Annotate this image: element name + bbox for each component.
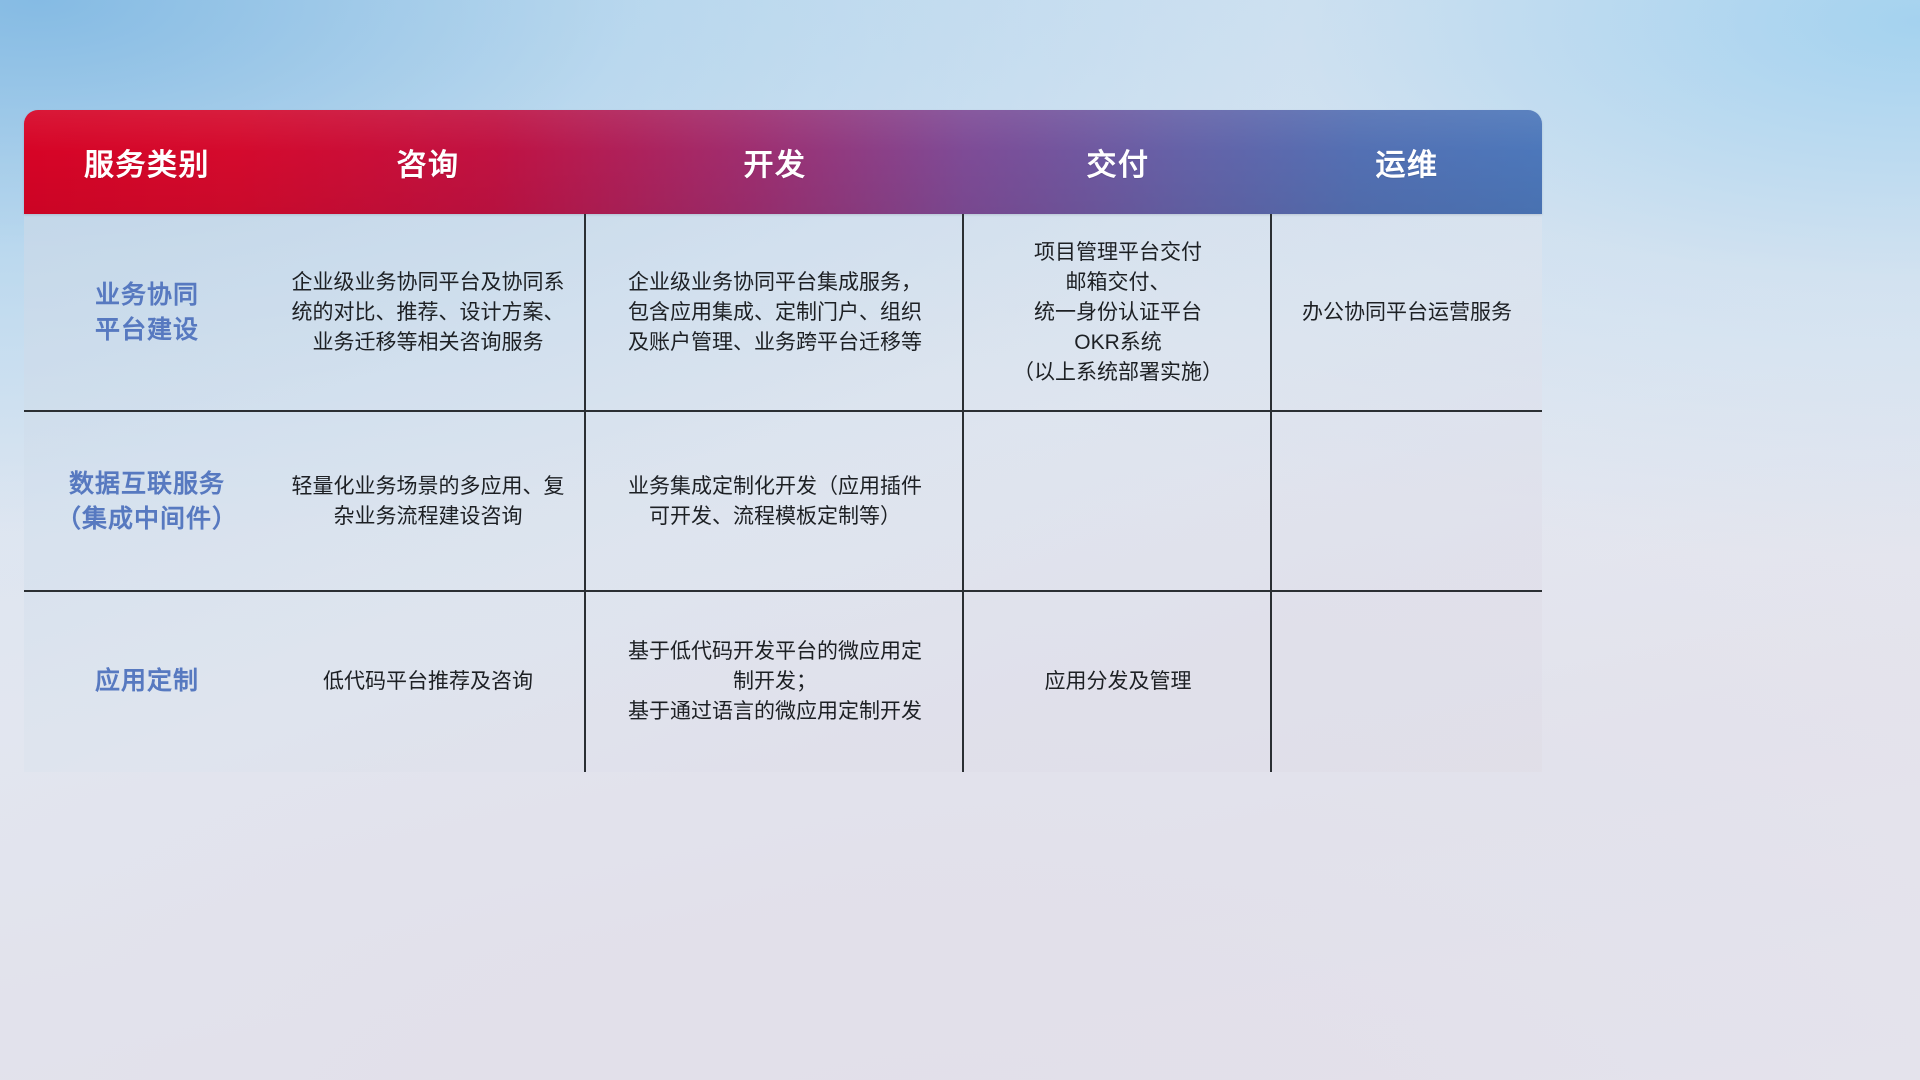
cell-consulting: 低代码平台推荐及咨询 <box>270 592 586 772</box>
cell-development: 基于低代码开发平台的微应用定 制开发； 基于通过语言的微应用定制开发 <box>586 592 964 772</box>
cell-consulting: 企业级业务协同平台及协同系 统的对比、推荐、设计方案、 业务迁移等相关咨询服务 <box>270 214 586 412</box>
cell-text: 应用分发及管理 <box>1045 667 1192 697</box>
table-row: 业务协同 平台建设 企业级业务协同平台及协同系 统的对比、推荐、设计方案、 业务… <box>24 214 1542 412</box>
cell-text: 项目管理平台交付 邮箱交付、 统一身份认证平台 OKR系统 （以上系统部署实施） <box>1013 238 1223 387</box>
cell-text: 基于低代码开发平台的微应用定 制开发； 基于通过语言的微应用定制开发 <box>628 637 922 726</box>
row-label-text: 业务协同 平台建设 <box>95 278 199 349</box>
cell-operations: 办公协同平台运营服务 <box>1272 214 1542 412</box>
table-row: 应用定制 低代码平台推荐及咨询 基于低代码开发平台的微应用定 制开发； 基于通过… <box>24 592 1542 772</box>
cell-text: 企业级业务协同平台及协同系 统的对比、推荐、设计方案、 业务迁移等相关咨询服务 <box>292 268 565 357</box>
cell-delivery: 项目管理平台交付 邮箱交付、 统一身份认证平台 OKR系统 （以上系统部署实施） <box>964 214 1272 412</box>
header-cell-consulting: 咨询 <box>270 140 586 184</box>
header-cell-development: 开发 <box>586 140 964 184</box>
row-label-cell: 数据互联服务 （集成中间件） <box>24 412 270 592</box>
row-label-text: 数据互联服务 （集成中间件） <box>56 467 238 538</box>
table-header-row: 服务类别 咨询 开发 交付 运维 <box>24 110 1542 214</box>
cell-text: 企业级业务协同平台集成服务， 包含应用集成、定制门户、组织 及账户管理、业务跨平… <box>628 268 922 357</box>
table-body: 业务协同 平台建设 企业级业务协同平台及协同系 统的对比、推荐、设计方案、 业务… <box>24 214 1542 772</box>
cell-consulting: 轻量化业务场景的多应用、复 杂业务流程建设咨询 <box>270 412 586 592</box>
service-matrix-table: 服务类别 咨询 开发 交付 运维 业务协同 平台建设 企业级业务协同平台及协同系… <box>24 110 1542 772</box>
row-label-cell: 应用定制 <box>24 592 270 772</box>
cell-text: 业务集成定制化开发（应用插件 可开发、流程模板定制等） <box>628 472 922 532</box>
header-cell-delivery: 交付 <box>964 140 1272 184</box>
cell-operations <box>1272 592 1542 772</box>
table-row: 数据互联服务 （集成中间件） 轻量化业务场景的多应用、复 杂业务流程建设咨询 业… <box>24 412 1542 592</box>
header-cell-operations: 运维 <box>1272 140 1542 184</box>
header-cell-service-category: 服务类别 <box>24 140 270 184</box>
cell-delivery: 应用分发及管理 <box>964 592 1272 772</box>
row-label-cell: 业务协同 平台建设 <box>24 214 270 412</box>
cell-delivery <box>964 412 1272 592</box>
row-label-text: 应用定制 <box>95 664 199 700</box>
cell-development: 企业级业务协同平台集成服务， 包含应用集成、定制门户、组织 及账户管理、业务跨平… <box>586 214 964 412</box>
cell-text: 办公协同平台运营服务 <box>1302 298 1512 328</box>
cell-development: 业务集成定制化开发（应用插件 可开发、流程模板定制等） <box>586 412 964 592</box>
cell-text: 低代码平台推荐及咨询 <box>323 667 533 697</box>
cell-operations <box>1272 412 1542 592</box>
cell-text: 轻量化业务场景的多应用、复 杂业务流程建设咨询 <box>292 472 565 532</box>
